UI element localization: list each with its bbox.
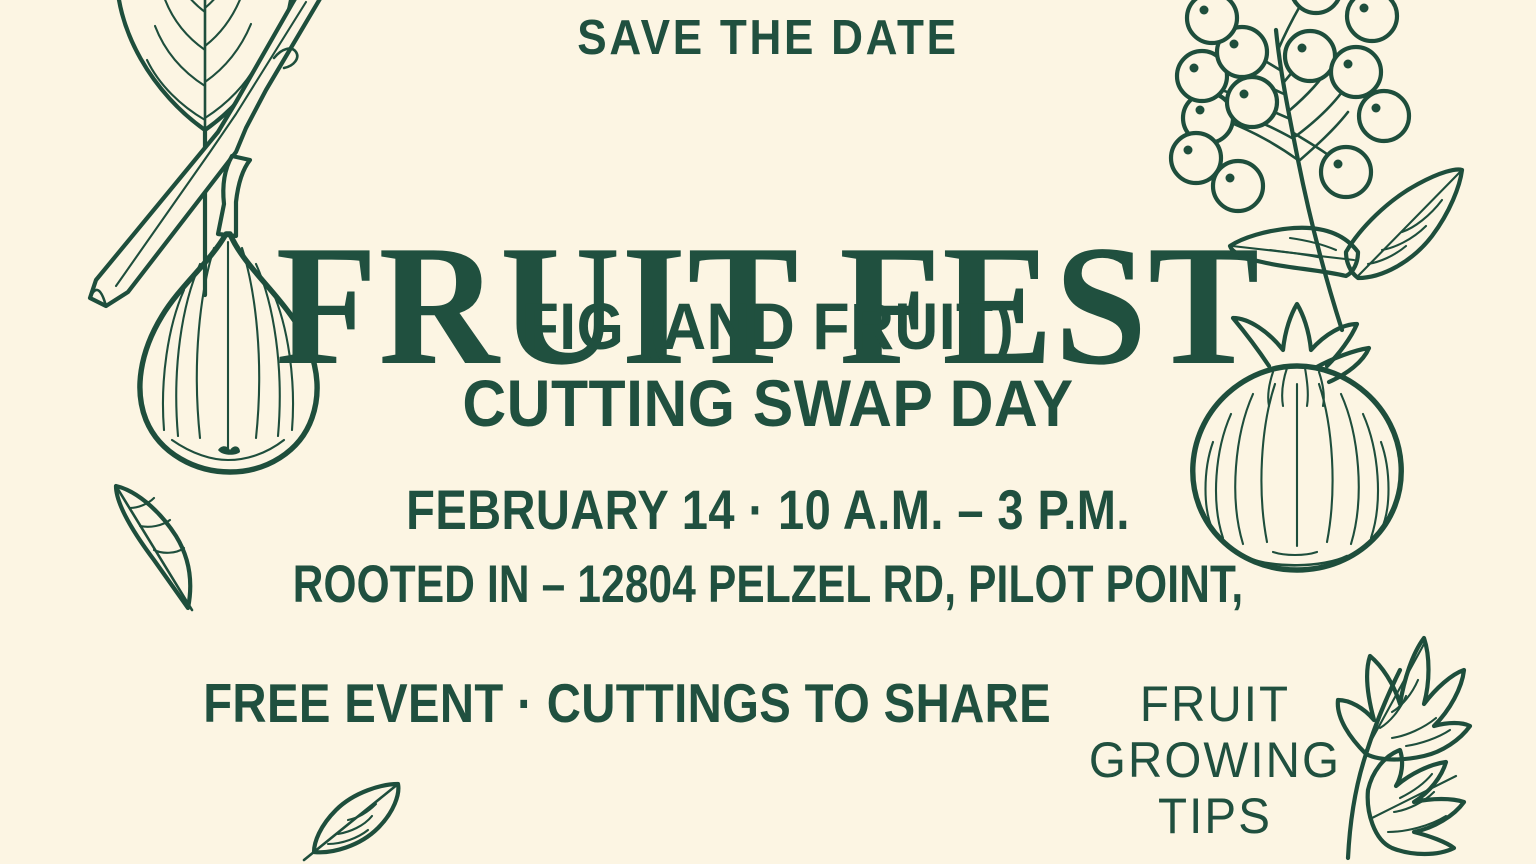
save-the-date-kicker: SAVE THE DATE bbox=[77, 14, 1459, 63]
fruit-growing-tips-note: FRUIT GROWING TIPS bbox=[1068, 676, 1363, 844]
event-subtitle-line-1: FIG (AND FRUIT) bbox=[61, 288, 1474, 365]
fruit-growing-tips-line-3: TIPS bbox=[1068, 788, 1363, 844]
poster-canvas: SAVE THE DATE FRUIT FEST FIG (AND FRUIT)… bbox=[0, 0, 1536, 864]
poster-footer: FREE EVENT · CUTTINGS TO SHARE FRUIT GRO… bbox=[0, 676, 1536, 844]
poster-text-layer: SAVE THE DATE FRUIT FEST FIG (AND FRUIT)… bbox=[0, 0, 1536, 864]
event-details-note: FREE EVENT · CUTTINGS TO SHARE bbox=[74, 676, 986, 731]
event-dateline: FEBRUARY 14 · 10 A.M. – 3 P.M. bbox=[123, 482, 1413, 538]
fruit-growing-tips-line-1: FRUIT bbox=[1068, 676, 1363, 732]
event-address: ROOTED IN – 12804 PELZEL RD, PILOT POINT… bbox=[154, 558, 1383, 611]
event-subtitle-line-2: CUTTING SWAP DAY bbox=[61, 365, 1474, 442]
event-subtitle: FIG (AND FRUIT) CUTTING SWAP DAY bbox=[61, 288, 1474, 441]
fruit-growing-tips-line-2: GROWING bbox=[1068, 732, 1363, 788]
